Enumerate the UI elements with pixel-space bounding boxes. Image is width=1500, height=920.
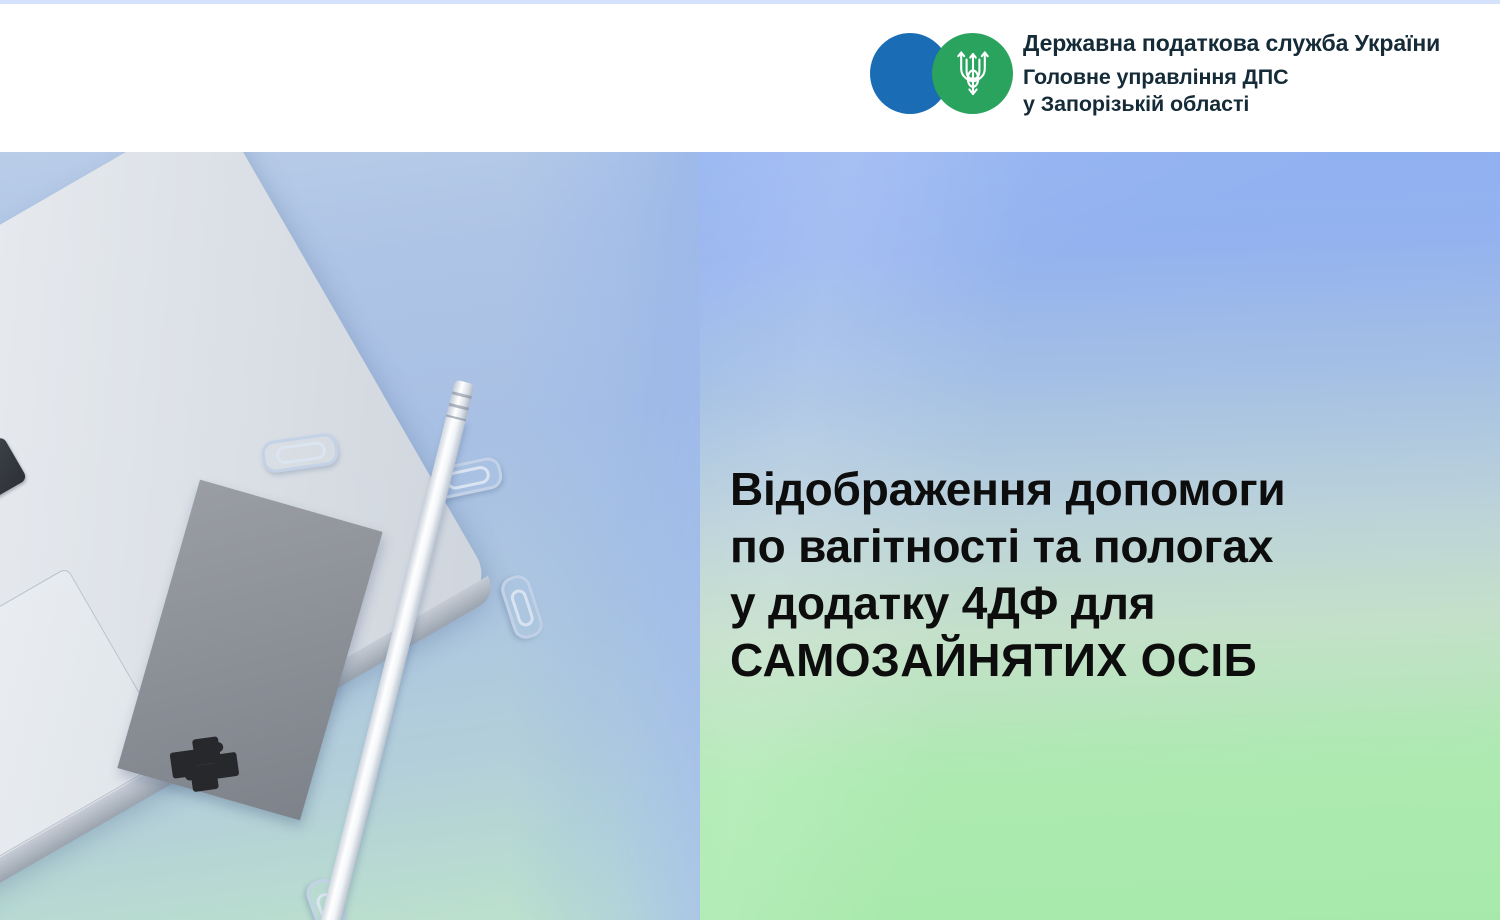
logo-subtitle-line-1: Головне управління ДПС (1023, 64, 1440, 91)
headline-line-2: по вагітності та пологах (730, 518, 1470, 575)
headline-line-1: Відображення допомоги (730, 461, 1470, 518)
headline-line-3: у додатку 4ДФ для (730, 575, 1470, 632)
laptop-desk-photo (0, 152, 700, 920)
logo-marks (870, 30, 1015, 116)
ukrainian-trident-icon (954, 48, 992, 98)
page-title: Відображення допомоги по вагітності та п… (730, 461, 1470, 689)
logo-subtitle-line-2: у Запорізькій області (1023, 91, 1440, 118)
organization-logo[interactable]: Державна податкова служба України Головн… (870, 30, 1440, 116)
headline-line-4: САМОЗАЙНЯТИХ ОСІБ (730, 632, 1470, 689)
logo-text-block: Державна податкова служба України Головн… (1023, 28, 1440, 118)
logo-title-line: Державна податкова служба України (1023, 28, 1440, 58)
hero-banner: Відображення допомоги по вагітності та п… (0, 152, 1500, 920)
puzzle-pieces (168, 733, 246, 802)
banner-page: Державна податкова служба України Головн… (0, 0, 1500, 920)
page-header: Державна податкова служба України Головн… (0, 4, 1500, 152)
photo-fade-edge (510, 152, 700, 920)
